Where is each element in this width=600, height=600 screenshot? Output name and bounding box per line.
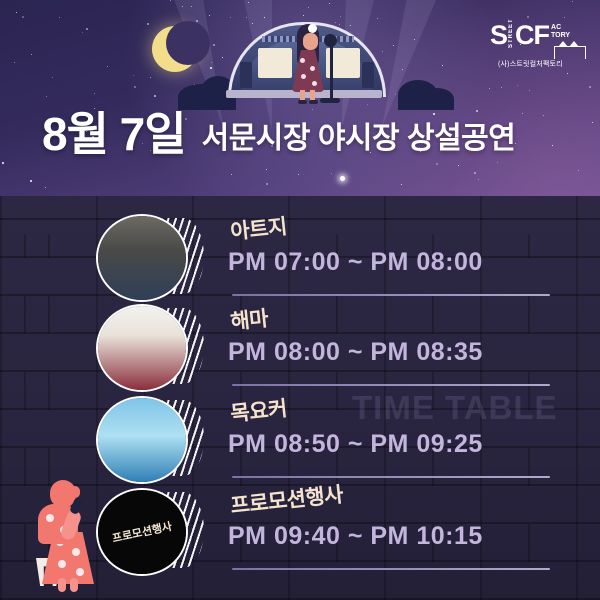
star-dot bbox=[458, 165, 459, 166]
row-divider bbox=[232, 476, 550, 478]
schedule-row-text: 아트지PM 07:00 ~ PM 08:00 bbox=[228, 210, 578, 277]
star-dot bbox=[134, 86, 136, 88]
hair-bun-shape bbox=[70, 486, 80, 498]
artist-name: 아트지 bbox=[229, 210, 288, 246]
star-dot bbox=[478, 179, 479, 180]
performance-time: PM 07:00 ~ PM 08:00 bbox=[228, 248, 578, 277]
artist-photo bbox=[96, 304, 188, 392]
artist-thumbnail[interactable] bbox=[96, 214, 204, 298]
star-dot bbox=[564, 17, 565, 18]
star-dot bbox=[442, 65, 443, 66]
star-dot bbox=[527, 16, 529, 18]
poster-root: S STREET CF AC TORY (사)스트릿컬처팩토리 8월 7일 서문… bbox=[0, 0, 600, 600]
artist-photo bbox=[96, 214, 188, 302]
star-dot bbox=[222, 57, 223, 58]
star-dot bbox=[589, 86, 591, 88]
schedule-row[interactable]: 해마PM 08:00 ~ PM 08:35 bbox=[0, 300, 600, 392]
star-dot bbox=[401, 184, 402, 185]
artist-thumbnail[interactable] bbox=[96, 396, 204, 480]
star-dot bbox=[231, 174, 232, 175]
schedule-row-text: 해마PM 08:00 ~ PM 08:35 bbox=[228, 300, 578, 367]
star-dot bbox=[489, 88, 490, 89]
logo-letters-cf: CF bbox=[515, 22, 549, 49]
star-dot bbox=[572, 1, 573, 2]
star-dot bbox=[266, 169, 267, 170]
star-dot bbox=[517, 85, 518, 86]
star-dot bbox=[82, 32, 83, 33]
artist-thumbnail[interactable] bbox=[96, 304, 204, 388]
star-dot bbox=[329, 3, 330, 4]
event-date: 8월 7일 bbox=[42, 98, 186, 164]
photo-fill bbox=[98, 216, 186, 300]
star-dot bbox=[382, 51, 383, 52]
star-dot bbox=[567, 73, 568, 74]
star-dot bbox=[266, 183, 268, 185]
artist-name: 목요커 bbox=[229, 392, 288, 428]
artist-thumbnail[interactable]: 프로모션행사 bbox=[96, 488, 204, 572]
star-dot bbox=[45, 187, 46, 188]
star-dot bbox=[497, 162, 498, 163]
star-dot bbox=[46, 96, 47, 97]
star-dot bbox=[331, 173, 332, 174]
row-divider bbox=[232, 568, 550, 570]
photo-fill bbox=[98, 398, 186, 482]
speaker-icon bbox=[240, 62, 252, 88]
star-dot bbox=[474, 172, 476, 174]
artist-name: 해마 bbox=[229, 302, 270, 336]
star-dot bbox=[230, 17, 231, 18]
factory-icon bbox=[554, 46, 586, 59]
artist-name: 프로모션행사 bbox=[229, 478, 344, 520]
star-dot bbox=[22, 16, 24, 18]
event-subtitle: 서문시장 야시장 상설공연 bbox=[202, 113, 516, 157]
row-divider bbox=[232, 294, 550, 296]
star-dot bbox=[30, 180, 32, 182]
schedule-row-text: 목요커PM 08:50 ~ PM 09:25 bbox=[228, 392, 578, 459]
star-dot bbox=[133, 75, 134, 76]
scf-logo[interactable]: S STREET CF AC TORY (사)스트릿컬처팩토리 bbox=[490, 22, 586, 68]
crescent-moon-icon bbox=[152, 26, 198, 72]
star-dot bbox=[52, 77, 53, 78]
star-dot bbox=[14, 62, 15, 63]
logo-tory-text: TORY bbox=[551, 32, 570, 39]
star-dot bbox=[303, 15, 304, 16]
star-dot bbox=[501, 87, 502, 88]
singer-illustration bbox=[288, 24, 328, 102]
poster-title-row: 8월 7일 서문시장 야시장 상설공연 bbox=[0, 100, 600, 162]
row-divider bbox=[232, 384, 550, 386]
speaker-icon bbox=[362, 62, 374, 88]
bright-star-icon bbox=[340, 176, 345, 181]
logo-letter-s: S bbox=[490, 22, 507, 49]
star-dot bbox=[94, 93, 95, 94]
seated-singer-illustration bbox=[28, 480, 102, 592]
schedule-row[interactable]: 아트지PM 07:00 ~ PM 08:00 bbox=[0, 210, 600, 302]
poster-header: S STREET CF AC TORY (사)스트릿컬처팩토리 8월 7일 서문… bbox=[0, 0, 600, 196]
performance-time: PM 08:00 ~ PM 08:35 bbox=[228, 338, 578, 367]
star-dot bbox=[308, 7, 309, 8]
performance-time: PM 09:40 ~ PM 10:15 bbox=[228, 522, 578, 551]
artist-photo: 프로모션행사 bbox=[96, 488, 188, 576]
star-dot bbox=[147, 23, 149, 25]
star-dot bbox=[298, 174, 299, 175]
stage-panel bbox=[258, 48, 292, 78]
microphone-stand bbox=[330, 42, 333, 100]
star-dot bbox=[578, 170, 579, 171]
star-dot bbox=[31, 54, 32, 55]
star-dot bbox=[436, 163, 438, 165]
logo-ac-text: AC bbox=[551, 24, 561, 31]
thumbnail-label: 프로모션행사 bbox=[96, 488, 188, 576]
star-dot bbox=[16, 12, 17, 13]
schedule-row-text: 프로모션행사PM 09:40 ~ PM 10:15 bbox=[228, 484, 578, 551]
artist-photo bbox=[96, 396, 188, 484]
performance-time: PM 08:50 ~ PM 09:25 bbox=[228, 430, 578, 459]
star-dot bbox=[59, 17, 60, 18]
hair-flower-icon bbox=[308, 24, 317, 33]
schedule-row[interactable]: 목요커PM 08:50 ~ PM 09:25 bbox=[0, 392, 600, 484]
logo-actory-text: AC TORY bbox=[551, 24, 570, 40]
photo-fill bbox=[98, 306, 186, 390]
star-dot bbox=[150, 77, 151, 78]
logo-korean-subtitle: (사)스트릿컬처팩토리 bbox=[498, 59, 563, 69]
star-dot bbox=[107, 66, 108, 67]
star-dot bbox=[335, 22, 336, 23]
star-dot bbox=[86, 28, 88, 30]
star-dot bbox=[170, 0, 171, 1]
star-dot bbox=[529, 90, 530, 91]
logo-street-text: STREET bbox=[508, 24, 514, 48]
star-dot bbox=[377, 18, 378, 19]
